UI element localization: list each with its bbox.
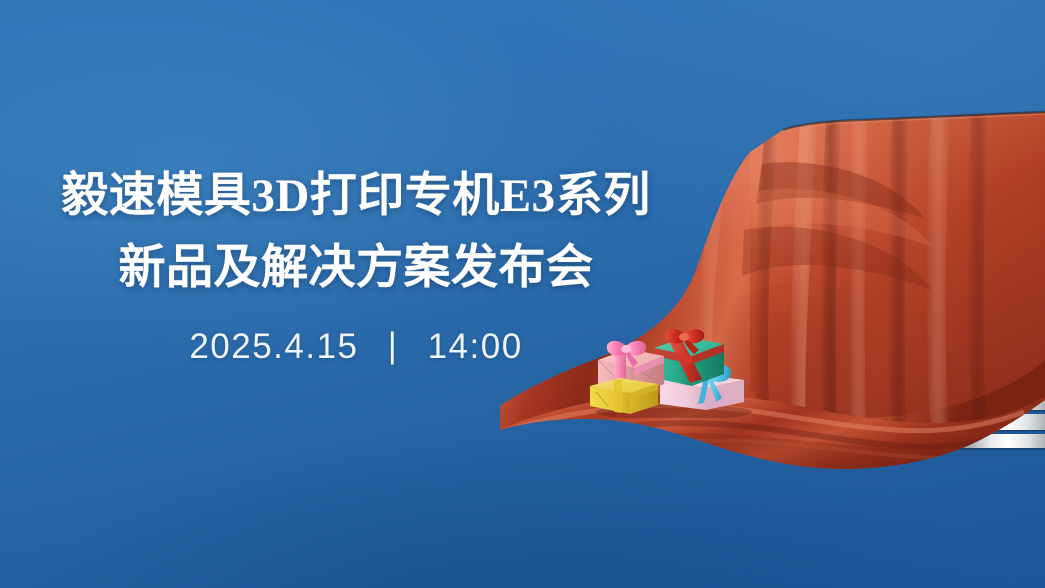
event-time: 14:00 — [428, 327, 523, 366]
headline-line-2: 新品及解决方案发布会 — [0, 232, 712, 304]
headline-block: 毅速模具3D打印专机E3系列 新品及解决方案发布会 2025.4.15 | 14… — [0, 160, 712, 367]
event-datetime: 2025.4.15 | 14:00 — [0, 327, 712, 367]
event-date: 2025.4.15 — [189, 327, 358, 366]
datetime-separator: | — [388, 326, 399, 366]
headline-line-1: 毅速模具3D打印专机E3系列 — [0, 160, 712, 232]
event-banner: 毅速模具3D打印专机E3系列 新品及解决方案发布会 2025.4.15 | 14… — [0, 0, 1045, 588]
